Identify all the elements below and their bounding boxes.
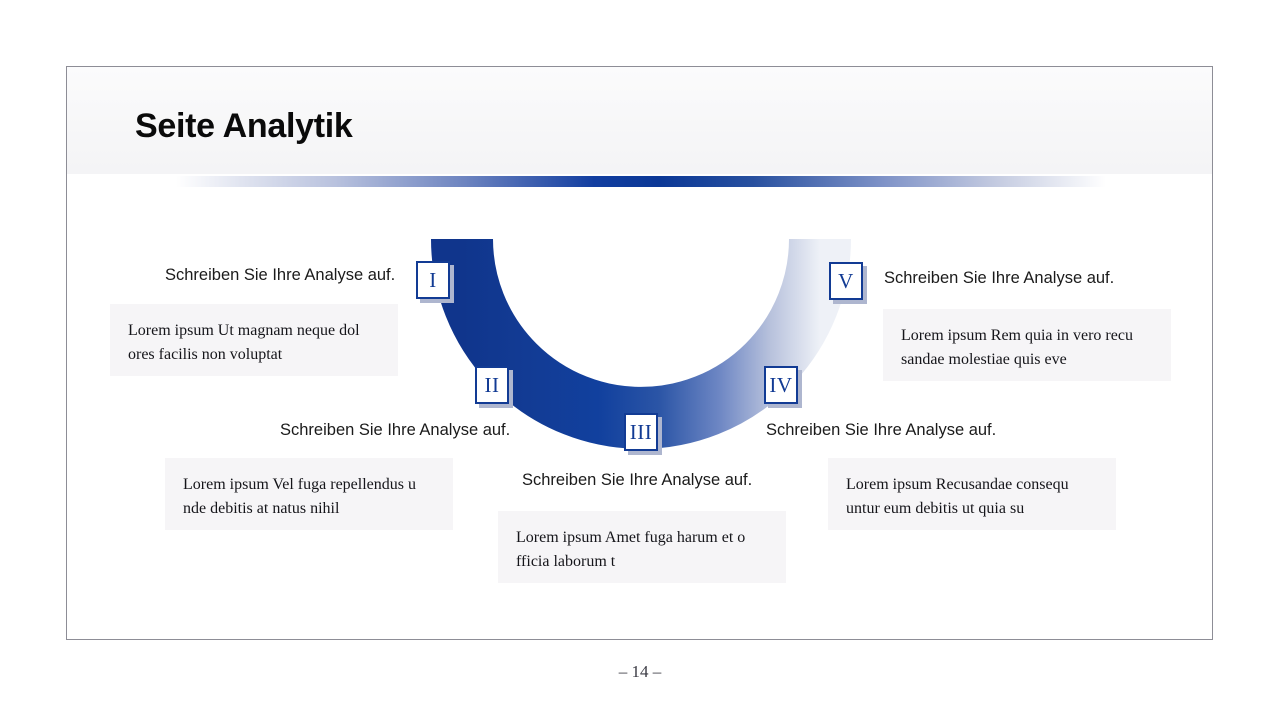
slide-canvas: Seite Analytik I Schreiben Sie Ihre Anal…: [66, 66, 1213, 640]
step-note-1: Lorem ipsum Ut magnam neque dol ores fac…: [110, 304, 398, 376]
step-badge-5[interactable]: V: [829, 262, 863, 300]
step-badge-1[interactable]: I: [416, 261, 450, 299]
step-badge-3[interactable]: III: [624, 413, 658, 451]
step-caption-2: Schreiben Sie Ihre Analyse auf.: [280, 421, 510, 440]
step-note-5: Lorem ipsum Rem quia in vero recu sandae…: [883, 309, 1171, 381]
step-caption-4: Schreiben Sie Ihre Analyse auf.: [766, 421, 996, 440]
step-caption-5: Schreiben Sie Ihre Analyse auf.: [884, 269, 1114, 288]
step-badge-1-label: I: [429, 270, 437, 291]
step-caption-1: Schreiben Sie Ihre Analyse auf.: [165, 266, 395, 285]
step-note-4: Lorem ipsum Recusandae consequ untur eum…: [828, 458, 1116, 530]
step-badge-3-label: III: [630, 422, 652, 443]
step-note-2: Lorem ipsum Vel fuga repellendus u nde d…: [165, 458, 453, 530]
step-note-3: Lorem ipsum Amet fuga harum et o fficia …: [498, 511, 786, 583]
page-number: – 14 –: [0, 662, 1280, 682]
step-caption-3: Schreiben Sie Ihre Analyse auf.: [522, 471, 752, 490]
step-badge-5-label: V: [838, 271, 854, 292]
step-badge-2[interactable]: II: [475, 366, 509, 404]
step-badge-4[interactable]: IV: [764, 366, 798, 404]
step-badge-4-label: IV: [769, 375, 792, 396]
step-badge-2-label: II: [485, 375, 500, 396]
